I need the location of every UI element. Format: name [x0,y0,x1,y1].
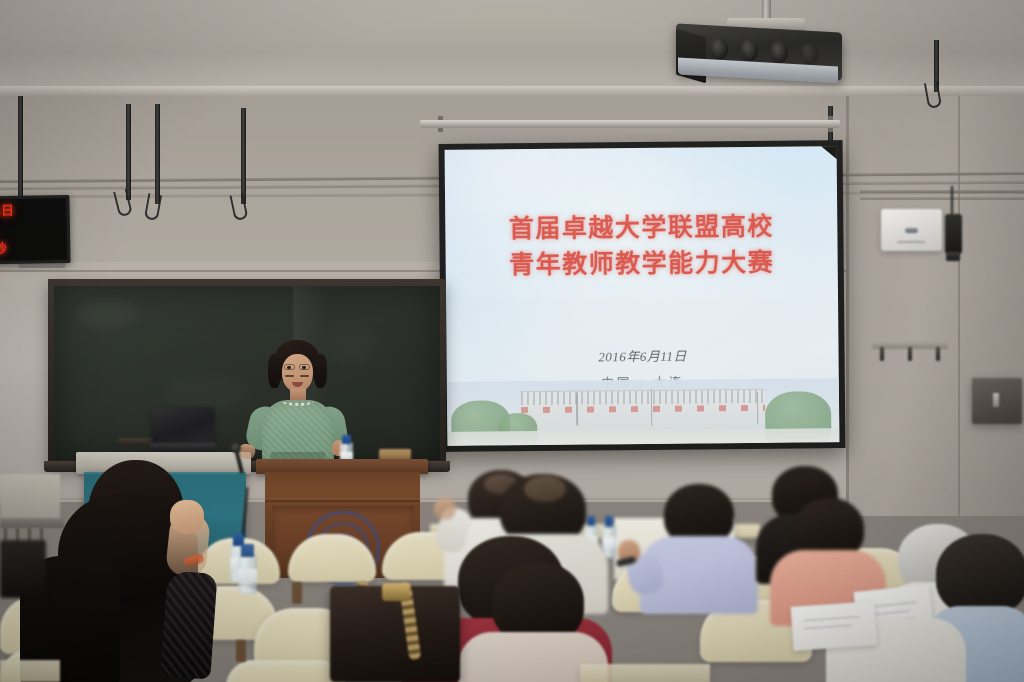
desk-ledge [580,664,710,682]
led-time-line: 7分46秒 [0,240,62,261]
hand [170,500,204,534]
power-plug [946,252,960,261]
led-date-line: 06月11日 [0,202,61,223]
projection-screen: 首届卓越大学联盟高校 青年教师教学能力大赛 2016年6月11日 中国 · 大连 [439,140,846,452]
desk-ledge [0,660,60,682]
conduit-pipe [860,190,1024,193]
curtain-rod [155,104,160,204]
microphone-icon[interactable] [231,443,241,453]
slide-photo-flagpole [576,392,578,425]
hand [434,498,456,520]
handbag-clasp [382,583,410,601]
coat-hook[interactable] [880,347,884,361]
curtain-rod [126,104,131,200]
slide-date: 2016年6月11日 [446,344,838,367]
lace-sleeve [160,570,217,679]
handout-paper[interactable] [791,601,878,651]
coat-hook[interactable] [936,347,940,361]
wall-seam-right [958,96,960,516]
pearl-necklace [282,396,314,406]
presenter [240,340,350,475]
slide-title-block: 首届卓越大学联盟高校 青年教师教学能力大赛 [445,208,838,283]
adapter-cable [951,186,953,216]
projection-screen-surface: 首届卓越大学联盟高校 青年教师教学能力大赛 2016年6月11日 中国 · 大连 [445,146,840,446]
audience-member-lavender-shirt [640,484,758,606]
slide-photo-building [521,389,764,431]
right-wall [846,96,1024,516]
laptop-base[interactable] [150,443,216,452]
wall-corner-edge [846,96,849,516]
led-weekday-line: 期六 [0,221,61,242]
coat-hook[interactable] [908,347,912,361]
dark-equipment-box [0,540,46,598]
slide-campus-photo [447,378,840,446]
laptop-screen[interactable] [152,407,214,445]
slide-title-line-2: 青年教师教学能力大赛 [446,244,838,283]
wall-switch[interactable] [993,393,999,407]
curtain-rod [241,108,246,204]
slide-photo-flagpole [757,392,759,424]
screen-roller-rail [420,120,840,128]
power-adapter [945,214,962,254]
ceiling [0,0,1024,96]
conduit-pipe [860,197,1024,200]
screen-corner-fold [821,146,839,170]
access-point-indicator [905,228,918,233]
led-clock-board: 06月11日 期六 7分46秒 [0,195,71,265]
cabinet-rail [0,518,64,528]
lecture-hall-photo: 首届卓越大学联盟高校 青年教师教学能力大赛 2016年6月11日 中国 · 大连 [0,0,1024,682]
slide-title-line-1: 首届卓越大学联盟高校 [445,208,837,247]
